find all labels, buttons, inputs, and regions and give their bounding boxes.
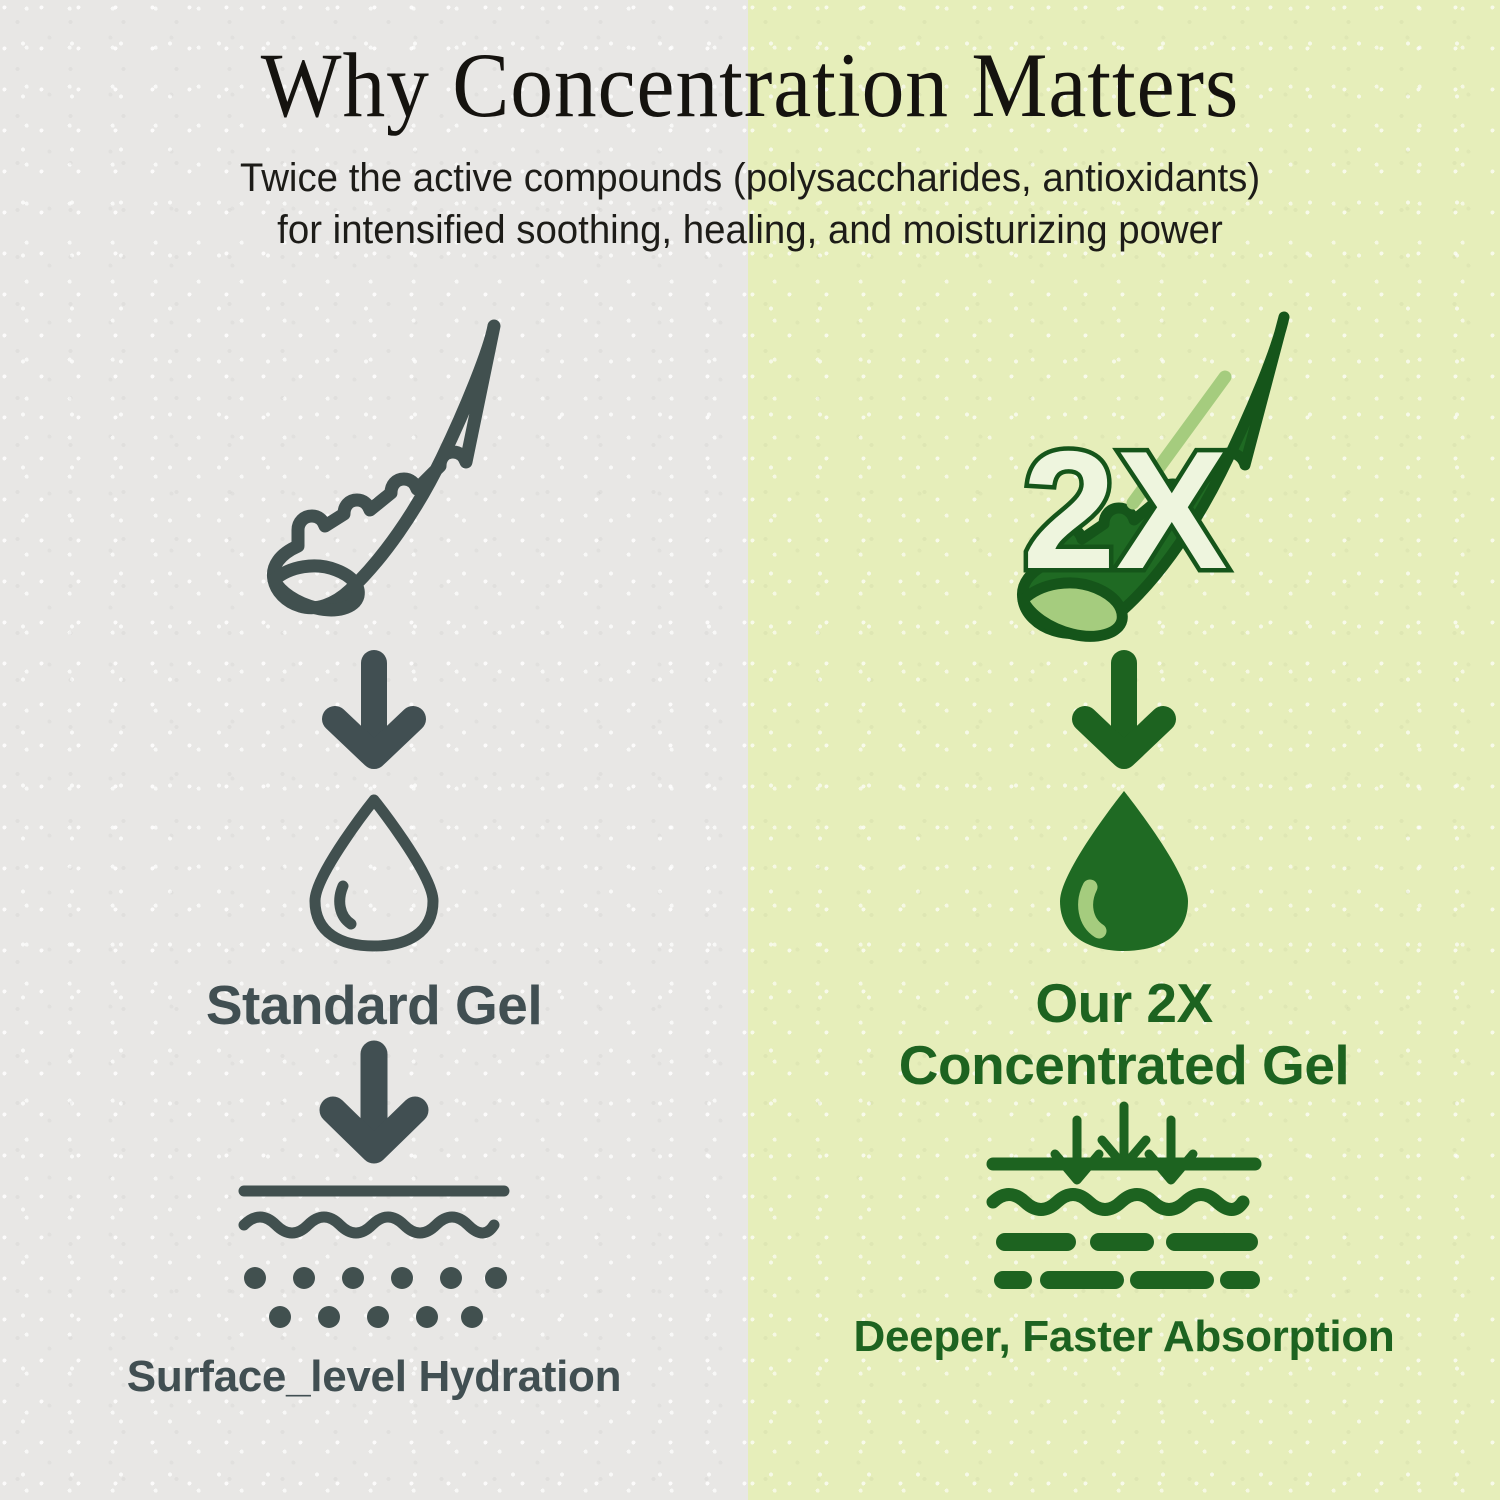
down-arrow-icon xyxy=(319,653,429,773)
badge-2x-text: 2X xyxy=(1022,416,1228,604)
left-skin-slot xyxy=(234,1177,514,1352)
concentrated-gel-column: 2X Our 2X Concentrated Gel xyxy=(748,300,1500,1362)
right-arrow-slot xyxy=(1069,645,1179,780)
right-skin-slot xyxy=(979,1102,1269,1312)
aloe-leaf-outline-icon xyxy=(194,308,554,638)
concentrated-gel-label-line-2: Concentrated Gel xyxy=(899,1035,1349,1097)
water-droplet-outline-icon xyxy=(299,788,449,958)
concentrated-gel-label: Our 2X Concentrated Gel xyxy=(899,973,1349,1096)
standard-gel-label: Standard Gel xyxy=(206,975,542,1037)
left-arrow-slot xyxy=(319,645,429,780)
concentrated-gel-label-line-1: Our 2X xyxy=(899,973,1349,1035)
left-caption: Surface_level Hydration xyxy=(127,1352,621,1402)
down-arrow-icon xyxy=(1069,653,1179,773)
page-title: Why Concentration Matters xyxy=(53,38,1448,134)
infographic-canvas: Why Concentration Matters Twice the acti… xyxy=(0,0,1500,1500)
header: Why Concentration Matters Twice the acti… xyxy=(0,0,1500,257)
right-droplet-slot xyxy=(1044,780,1204,965)
subtitle-line-1: Twice the active compounds (polysacchari… xyxy=(107,152,1393,205)
water-droplet-filled-icon xyxy=(1044,783,1204,963)
aloe-leaf-filled-icon: 2X xyxy=(929,303,1319,643)
page-subtitle: Twice the active compounds (polysacchari… xyxy=(107,152,1393,258)
down-arrow-icon xyxy=(319,1044,429,1169)
standard-gel-column: Standard Gel Surface_leve xyxy=(0,300,748,1402)
left-arrow2-slot xyxy=(319,1037,429,1177)
right-caption: Deeper, Faster Absorption xyxy=(854,1312,1395,1362)
left-leaf-slot xyxy=(194,300,554,645)
subtitle-line-2: for intensified soothing, healing, and m… xyxy=(107,204,1393,257)
right-leaf-slot: 2X xyxy=(929,300,1319,645)
skin-deep-absorption-icon xyxy=(979,1102,1269,1302)
skin-surface-hydration-icon xyxy=(234,1177,514,1332)
left-droplet-slot xyxy=(299,780,449,965)
